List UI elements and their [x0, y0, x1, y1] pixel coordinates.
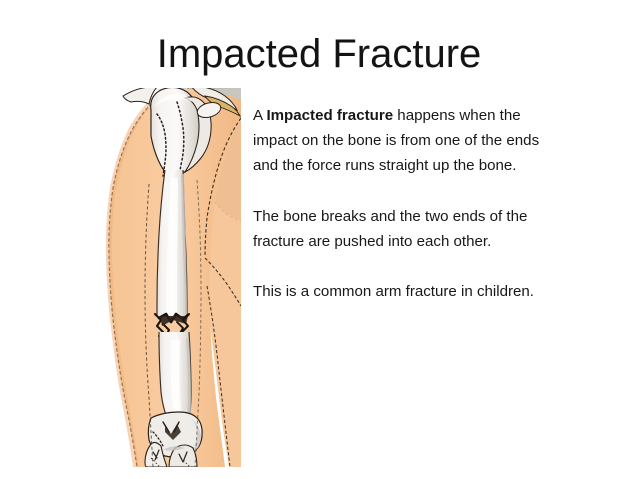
body-paragraph-3: This is a common arm fracture in childre…	[253, 279, 541, 304]
impacted-fracture-illustration	[93, 88, 241, 467]
page-title: Impacted Fracture	[0, 31, 638, 77]
humerus-shaft-lower	[159, 332, 191, 422]
body-paragraph-2: The bone breaks and the two ends of the …	[253, 204, 541, 254]
body-paragraph-1: A Impacted fracture happens when the imp…	[253, 103, 541, 179]
slide-canvas: Impacted Fracture	[0, 0, 638, 479]
slide-body-text: A Impacted fracture happens when the imp…	[253, 103, 541, 304]
arm-anatomy-svg	[93, 88, 241, 467]
paragraph-1-lead: A	[253, 107, 266, 124]
paragraph-1-bold-term: Impacted fracture	[266, 107, 393, 124]
